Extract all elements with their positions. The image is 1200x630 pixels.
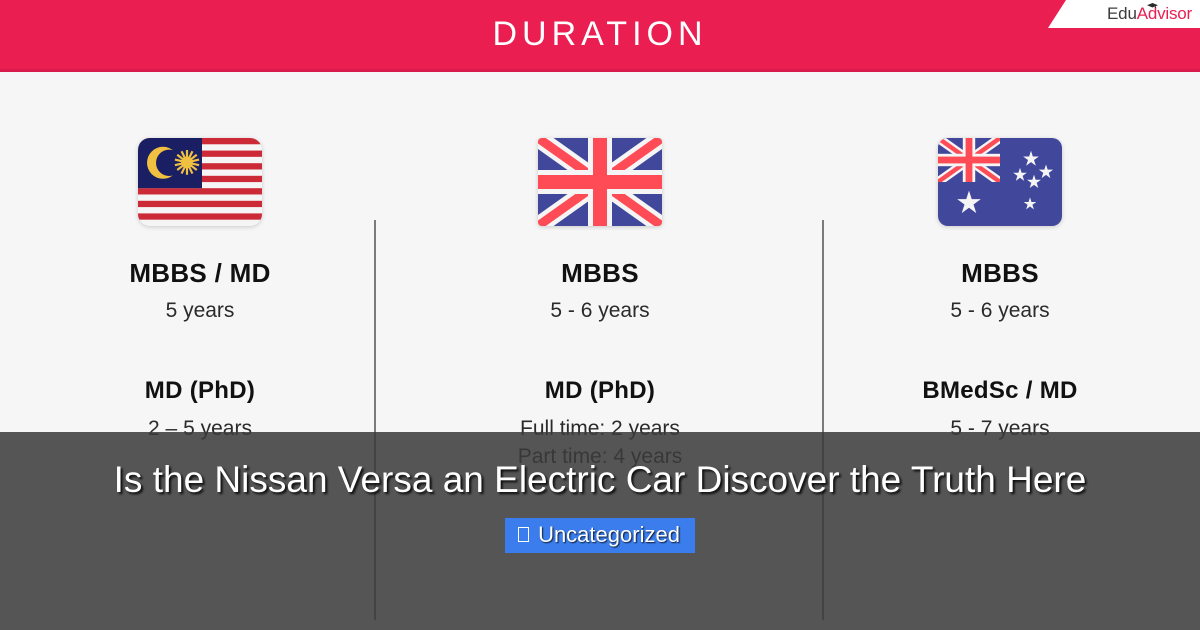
eduadvisor-logo[interactable]: EduAdvisor <box>1048 0 1200 28</box>
degree-name-primary: MBBS / MD <box>129 258 270 289</box>
screenshot-root: DURATION EduAdvisor <box>0 0 1200 630</box>
united-kingdom-flag-icon <box>538 138 662 226</box>
page-title: DURATION <box>0 0 1200 69</box>
degree-name-primary: MBBS <box>961 258 1039 289</box>
degree-duration-primary: 5 - 6 years <box>550 299 649 323</box>
degree-name-secondary: MD (PhD) <box>145 377 255 405</box>
page-header: DURATION EduAdvisor <box>0 0 1200 72</box>
logo-text-edu: Edu <box>1107 4 1137 23</box>
column-australia: MBBS 5 - 6 years BMedSc / MD 5 - 7 years <box>800 72 1200 492</box>
category-badge[interactable]: Uncategorized <box>505 518 695 554</box>
country-columns: MBBS / MD 5 years MD (PhD) 2 – 5 years <box>0 72 1200 492</box>
column-united-kingdom: MBBS 5 - 6 years MD (PhD) Full time: 2 y… <box>400 72 800 492</box>
degree-duration-primary: 5 years <box>166 299 235 323</box>
category-badge-label: Uncategorized <box>538 521 680 549</box>
degree-name-secondary: MD (PhD) <box>545 377 655 405</box>
video-title-overlay: Is the Nissan Versa an Electric Car Disc… <box>0 432 1200 630</box>
degree-duration-primary: 5 - 6 years <box>950 299 1049 323</box>
malaysia-flag-icon <box>138 138 262 226</box>
missing-glyph-box-icon <box>518 527 529 542</box>
degree-name-primary: MBBS <box>561 258 639 289</box>
column-malaysia: MBBS / MD 5 years MD (PhD) 2 – 5 years <box>0 72 400 492</box>
logo-text-advisor: Advisor <box>1137 4 1192 23</box>
overlay-title: Is the Nissan Versa an Electric Car Disc… <box>60 450 1140 510</box>
degree-name-secondary: BMedSc / MD <box>922 377 1077 405</box>
graduation-cap-icon <box>1147 3 1158 9</box>
australia-flag-icon <box>938 138 1062 226</box>
